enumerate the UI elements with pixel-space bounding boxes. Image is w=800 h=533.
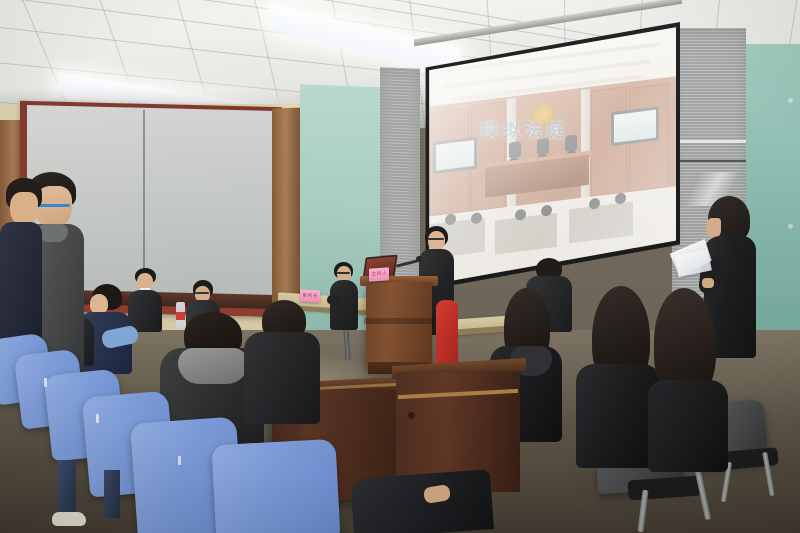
hand: [702, 278, 714, 288]
head: [10, 192, 38, 226]
head: [706, 218, 721, 238]
wooden-lectern: [366, 282, 432, 370]
leg: [58, 460, 76, 516]
name-card-podium: 主持人: [369, 267, 389, 281]
lectern-shelf: [364, 318, 434, 324]
glasses-icon: [428, 238, 444, 240]
glasses-icon: [337, 272, 350, 274]
chair-tag: [178, 456, 181, 465]
seated-participant-left-table: [326, 262, 362, 334]
console-knob[interactable]: [408, 412, 415, 419]
arm: [326, 295, 343, 307]
winter-jacket: [648, 380, 728, 472]
chair-tag: [44, 378, 47, 387]
name-card-text: 主持人: [371, 272, 387, 278]
microphone-head: [416, 256, 422, 262]
name-card-text: 审判长: [302, 293, 318, 299]
louver-seam-mid: [672, 160, 746, 162]
louver-seam-top: [672, 140, 746, 143]
coat: [244, 332, 320, 424]
audience-member-long-hair: [648, 288, 728, 458]
seated-person-legs: [350, 469, 494, 533]
blue-padded-chair[interactable]: [211, 439, 340, 533]
glasses-icon: [195, 292, 209, 294]
chair-tag: [96, 414, 99, 423]
classroom-photo-scene: 模拟法庭 主持人 审判长 公诉人: [0, 0, 800, 533]
leg: [104, 470, 120, 518]
hood: [178, 348, 248, 384]
audience-member-dark-coat: [244, 300, 320, 420]
head: [428, 231, 445, 250]
shoe: [52, 512, 86, 526]
